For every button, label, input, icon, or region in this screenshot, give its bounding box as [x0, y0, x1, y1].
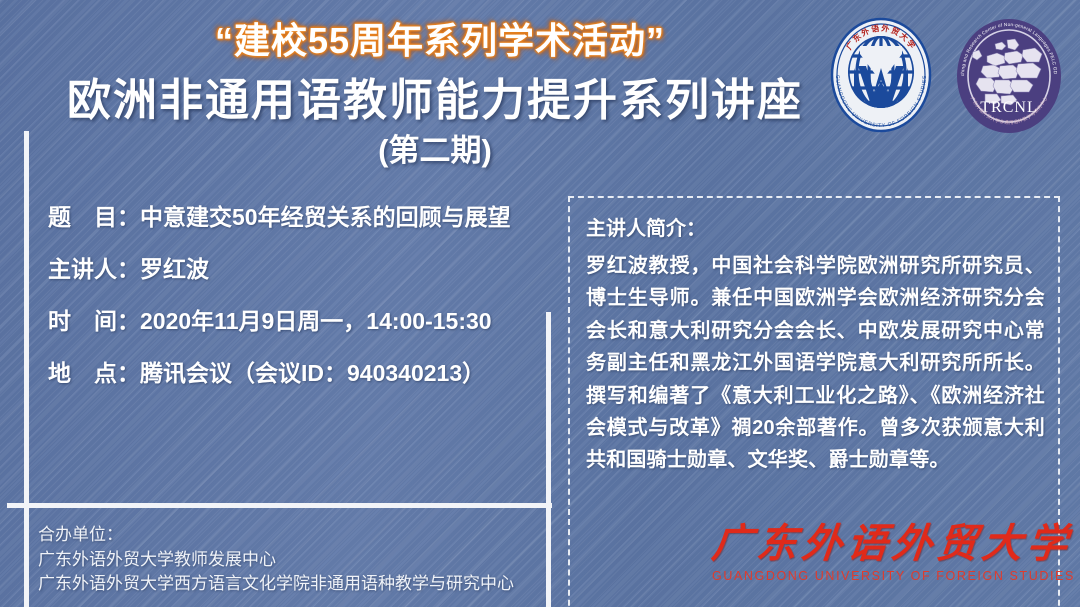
info-row-time: 时 间：2020年11月9日周一，14:00-15:30	[48, 310, 548, 333]
frame-line-bottom	[7, 503, 552, 508]
wordmark-chinese: 广东外语外贸大学	[710, 524, 1064, 564]
info-label-time: 时 间：	[48, 310, 140, 333]
event-info-block: 题 目：中意建交50年经贸关系的回顾与展望 主讲人：罗红波 时 间：2020年1…	[48, 206, 548, 385]
series-kicker: “建校55周年系列学术活动”	[0, 12, 880, 64]
speaker-bio-title: 主讲人简介：	[586, 212, 1045, 241]
page-title: 欧洲非通用语教师能力提升系列讲座	[0, 64, 870, 128]
info-value-time: 2020年11月9日周一，14:00-15:30	[140, 308, 492, 334]
info-label-venue: 地 点：	[48, 362, 140, 385]
info-row-venue: 地 点：腾讯会议（会议ID：940340213）	[48, 362, 548, 385]
info-row-speaker: 主讲人：罗红波	[48, 258, 548, 281]
organizer-line-1: 广东外语外贸大学教师发展中心	[38, 548, 548, 573]
organizers-block: 合办单位： 广东外语外贸大学教师发展中心 广东外语外贸大学西方语言文化学院非通用…	[38, 523, 548, 597]
wordmark-english: GUANGDONG UNIVERSITY OF FOREIGN STUDIES	[712, 569, 1062, 583]
gdufs-emblem-icon: GUANGDONG UNIVERSITY OF FOREIGN STUDIES …	[822, 10, 940, 140]
speaker-bio-body: 罗红波教授，中国社会科学院欧洲研究所研究员、博士生导师。兼任中国欧洲学会欧洲经济…	[586, 250, 1045, 477]
info-value-venue: 腾讯会议（会议ID：940340213）	[140, 360, 485, 386]
organizers-title: 合办单位：	[38, 523, 548, 548]
info-value-speaker: 罗红波	[140, 256, 209, 282]
svg-text:TRCNL: TRCNL	[980, 99, 1037, 116]
info-row-topic: 题 目：中意建交50年经贸关系的回顾与展望	[48, 206, 548, 229]
info-value-topic: 中意建交50年经贸关系的回顾与展望	[140, 204, 511, 230]
info-label-speaker: 主讲人：	[48, 258, 140, 281]
university-wordmark: 广东外语外贸大学 GUANGDONG UNIVERSITY OF FOREIGN…	[712, 524, 1062, 583]
poster-canvas: “建校55周年系列学术活动” 欧洲非通用语教师能力提升系列讲座 (第二期) GU…	[0, 0, 1080, 607]
frame-line-left	[24, 131, 29, 607]
organizer-line-2: 广东外语外贸大学西方语言文化学院非通用语种教学与研究中心	[38, 572, 548, 597]
info-label-topic: 题 目：	[48, 206, 140, 229]
page-subtitle: (第二期)	[0, 125, 870, 170]
trcnl-emblem-icon: TRCNL Teaching and Research Center of No…	[949, 12, 1069, 140]
